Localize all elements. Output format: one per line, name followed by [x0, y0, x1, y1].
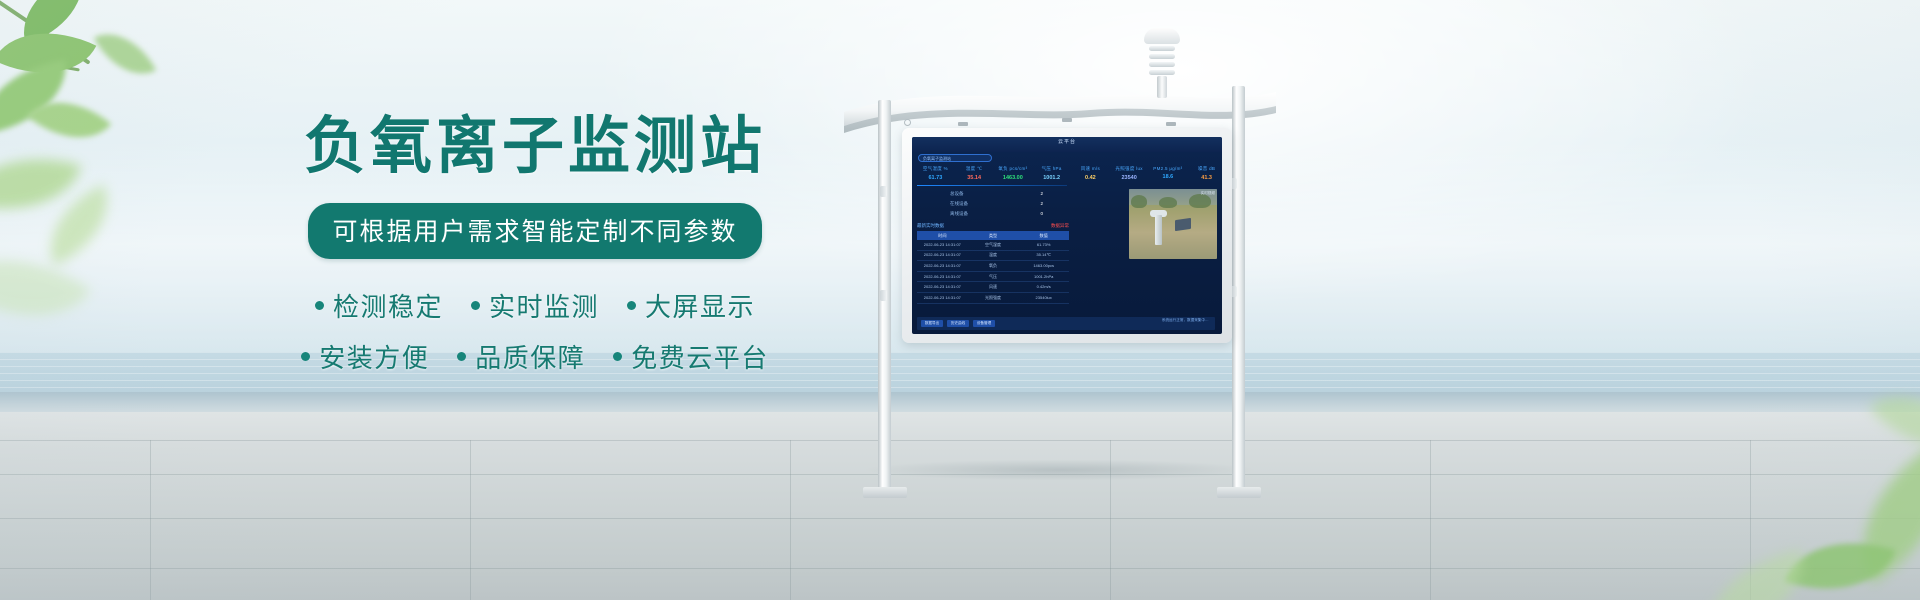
bullet-icon: [627, 301, 636, 310]
station-selector-label: 负氧离子监测站: [923, 156, 951, 162]
screen-mount: [958, 122, 968, 126]
feature-item: 检测稳定: [315, 287, 443, 324]
kpi-card: 气压 hPa 1001.2: [1032, 166, 1071, 181]
kpi-label: 气压 hPa: [1032, 166, 1071, 172]
bullet-icon: [457, 352, 466, 361]
sensor-ring: [1149, 62, 1175, 67]
stat-label: 在线设备: [950, 201, 968, 207]
stat-value: 0: [1040, 211, 1043, 217]
cell-time: 2022-06-23 14:31:07: [917, 252, 968, 258]
device-stats: 总设备 2 在线设备 2 离线设备 0: [934, 191, 1059, 221]
paving-line: [150, 440, 151, 600]
table-row: 2022-06-23 14:31:07 风速 0.42m/s: [917, 282, 1069, 293]
post-base-right: [1217, 487, 1261, 498]
sensor-cup: [1144, 28, 1180, 44]
stat-label: 离线设备: [950, 211, 968, 217]
station-selector[interactable]: 负氧离子监测站: [918, 154, 992, 162]
kpi-card: 氧负 pcs/cm³ 1463.00: [994, 166, 1033, 181]
devices-button[interactable]: 设备管理: [973, 320, 995, 327]
camera-device-pole: [1155, 215, 1162, 245]
feature-item: 品质保障: [457, 338, 585, 375]
table-row: 2022-06-23 14:31:07 气压 1001.2hPa: [917, 272, 1069, 283]
cell-type: 氧负: [968, 263, 1019, 269]
table-row: 2022-06-23 14:31:07 温度 35.14℃: [917, 251, 1069, 262]
bullet-icon: [613, 352, 622, 361]
feature-list: 检测稳定 实时监测 大屏显示 安装方便 品质保障: [300, 287, 770, 375]
kpi-label: 温度 ℃: [955, 166, 994, 172]
feature-item: 安装方便: [301, 338, 429, 375]
feature-label: 品质保障: [475, 338, 585, 375]
cell-type: 气压: [968, 274, 1019, 280]
cell-value: 35.14℃: [1018, 252, 1069, 258]
monitoring-kiosk: 云平台 负氧离子监测站 空气湿度 % 61.73 温度 ℃ 35.14 氧负 p…: [840, 28, 1280, 498]
table-title: 最新实时数据: [917, 223, 944, 229]
feature-label: 免费云平台: [631, 338, 769, 375]
cell-time: 2022-06-23 14:31:07: [917, 295, 968, 301]
table-row: 2022-06-23 14:31:07 空气湿度 61.73%: [917, 240, 1069, 251]
cell-type: 空气湿度: [968, 242, 1019, 248]
cell-value: 61.73%: [1018, 242, 1069, 248]
table-columns: 时间 类型 数值: [917, 231, 1069, 240]
bullet-icon: [301, 352, 310, 361]
cell-value: 1463.00pcs: [1018, 263, 1069, 269]
camera-tree: [1189, 194, 1211, 208]
hook-icon: [904, 119, 911, 126]
cell-type: 风速: [968, 284, 1019, 290]
post-base-left: [863, 487, 907, 498]
camera-label: 实时视频: [1201, 191, 1215, 196]
dashboard-bottom-bar: 数据导出 历史曲线 设备管理 系统运行正常，数据采集中…: [917, 317, 1215, 330]
status-badge: 数据异常: [1051, 223, 1069, 229]
history-button[interactable]: 历史曲线: [947, 320, 969, 327]
kpi-value: 1463.00: [994, 175, 1033, 181]
paving-line: [1430, 440, 1431, 600]
kpi-value: 41.3: [1187, 175, 1222, 181]
sensor-ring: [1149, 70, 1175, 75]
kpi-label: 氧负 pcs/cm³: [994, 166, 1033, 172]
bullet-icon: [315, 301, 324, 310]
cell-value: 1001.2hPa: [1018, 274, 1069, 280]
kpi-row: 空气湿度 % 61.73 温度 ℃ 35.14 氧负 pcs/cm³ 1463.…: [916, 166, 1222, 181]
sensor-ring: [1149, 46, 1175, 51]
column-header: 数值: [1018, 233, 1069, 239]
screen-mount: [1062, 118, 1072, 122]
post-hinge: [880, 290, 887, 301]
data-table: 最新实时数据 数据异常 时间 类型 数值 2022-06-23 14:31:07…: [917, 223, 1069, 304]
subtitle-badge: 可根据用户需求智能定制不同参数: [308, 203, 761, 259]
weather-sensor-icon: [1138, 28, 1186, 94]
cell-time: 2022-06-23 14:31:07: [917, 242, 968, 248]
divider: [917, 185, 1067, 186]
stat-row: 离线设备 0: [934, 211, 1059, 217]
kpi-card: 噪音 dB 41.3: [1187, 166, 1222, 181]
cell-time: 2022-06-23 14:31:07: [917, 284, 968, 290]
column-header: 时间: [917, 233, 968, 239]
table-row: 2022-06-23 14:31:07 光照强度 23540lux: [917, 293, 1069, 304]
stat-row: 总设备 2: [934, 191, 1059, 197]
kpi-card: 温度 ℃ 35.14: [955, 166, 994, 181]
cell-value: 23540lux: [1018, 295, 1069, 301]
table-header-row: 最新实时数据 数据异常: [917, 223, 1069, 229]
camera-solar-panel: [1175, 218, 1191, 231]
kpi-label: 风速 m/s: [1071, 166, 1110, 172]
stat-value: 2: [1040, 201, 1043, 207]
column-header: 类型: [968, 233, 1019, 239]
page-title: 负氧离子监测站: [300, 112, 770, 181]
screen-mount: [1166, 122, 1176, 126]
feature-item: 大屏显示: [627, 287, 755, 324]
badge-container: 可根据用户需求智能定制不同参数: [300, 181, 770, 259]
kpi-value: 1001.2: [1032, 175, 1071, 181]
dashboard-title: 云平台: [912, 138, 1222, 145]
feature-label: 检测稳定: [333, 287, 443, 324]
paving-line: [0, 518, 1920, 519]
cell-type: 温度: [968, 252, 1019, 258]
stat-label: 总设备: [950, 191, 964, 197]
bullet-icon: [471, 301, 480, 310]
export-button[interactable]: 数据导出: [921, 320, 943, 327]
table-row: 2022-06-23 14:31:07 氧负 1463.00pcs: [917, 261, 1069, 272]
feature-label: 安装方便: [319, 338, 429, 375]
camera-feed[interactable]: 实时视频: [1129, 189, 1217, 259]
kpi-value: 61.73: [916, 175, 955, 181]
sensor-stem: [1157, 76, 1167, 98]
feature-row: 检测稳定 实时监测 大屏显示: [300, 287, 770, 324]
sensor-ring: [1149, 54, 1175, 59]
feature-row: 安装方便 品质保障 免费云平台: [300, 338, 770, 375]
kpi-label: 噪音 dB: [1187, 166, 1222, 172]
kpi-label: 空气湿度 %: [916, 166, 955, 172]
kpi-value: 18.6: [1149, 174, 1188, 180]
kpi-card: 光照强度 lux 23540: [1110, 166, 1149, 181]
feature-label: 大屏显示: [645, 287, 755, 324]
dashboard-screen[interactable]: 云平台 负氧离子监测站 空气湿度 % 61.73 温度 ℃ 35.14 氧负 p…: [912, 137, 1222, 334]
feature-label: 实时监测: [489, 287, 599, 324]
kpi-value: 35.14: [955, 175, 994, 181]
cell-time: 2022-06-23 14:31:07: [917, 274, 968, 280]
paving-line: [470, 440, 471, 600]
cell-type: 光照强度: [968, 295, 1019, 301]
hero-text-block: 负氧离子监测站 可根据用户需求智能定制不同参数 检测稳定 实时监测 大屏显示: [300, 112, 770, 389]
display-frame: 云平台 负氧离子监测站 空气湿度 % 61.73 温度 ℃ 35.14 氧负 p…: [902, 128, 1232, 343]
banner-stage: 负氧离子监测站 可根据用户需求智能定制不同参数 检测稳定 实时监测 大屏显示: [0, 0, 1920, 600]
cell-value: 0.42m/s: [1018, 284, 1069, 290]
kpi-label: PM2.5 μg/m³: [1149, 166, 1188, 171]
kpi-value: 0.42: [1071, 175, 1110, 181]
stat-value: 2: [1040, 191, 1043, 197]
stat-row: 在线设备 2: [934, 201, 1059, 207]
kpi-label: 光照强度 lux: [1110, 166, 1149, 172]
status-marquee: 系统运行正常，数据采集中…: [1162, 318, 1209, 323]
camera-tree: [1131, 195, 1147, 208]
post-hinge: [880, 186, 887, 197]
paving-line: [0, 568, 1920, 569]
kpi-card: PM2.5 μg/m³ 18.6: [1149, 166, 1188, 181]
kpi-card: 空气湿度 % 61.73: [916, 166, 955, 181]
feature-item: 免费云平台: [613, 338, 769, 375]
camera-tree: [1159, 197, 1177, 208]
kpi-card: 风速 m/s 0.42: [1071, 166, 1110, 181]
cell-time: 2022-06-23 14:31:07: [917, 263, 968, 269]
feature-item: 实时监测: [471, 287, 599, 324]
kpi-value: 23540: [1110, 175, 1149, 181]
